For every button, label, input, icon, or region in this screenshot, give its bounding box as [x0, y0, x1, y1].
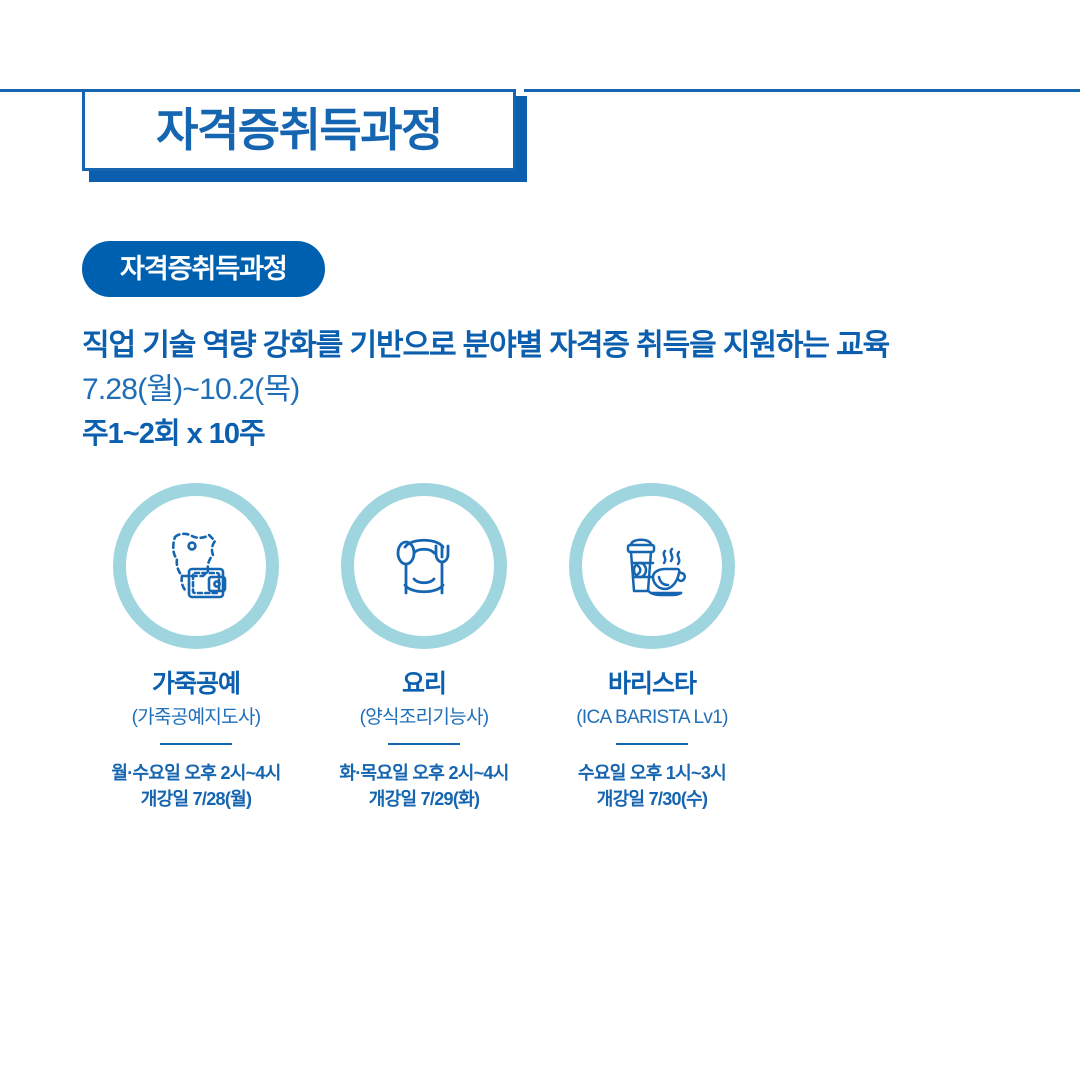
course-certificate: (가죽공예지도사) — [132, 707, 261, 729]
course-start-date: 개강일 7/30(수) — [597, 786, 708, 812]
course-certificate: (ICA BARISTA Lv1) — [576, 707, 727, 729]
course-card[interactable]: 바리스타 (ICA BARISTA Lv1) 수요일 오후 1시~3시 개강일 … — [538, 483, 766, 813]
intro-headline: 직업 기술 역량 강화를 기반으로 분야별 자격증 취득을 지원하는 교육 — [82, 327, 1042, 365]
course-divider — [160, 743, 232, 745]
course-card[interactable]: 요리 (양식조리기능사) 화·목요일 오후 2시~4시 개강일 7/29(화) — [310, 483, 538, 813]
course-divider — [616, 743, 688, 745]
header-title-box: 자격증취득과정 — [82, 89, 516, 171]
course-icon-circle — [569, 483, 735, 649]
page-title: 자격증취득과정 — [156, 107, 442, 153]
course-title: 바리스타 — [608, 671, 696, 699]
course-certificate: (양식조리기능사) — [360, 707, 489, 729]
header-banner: 자격증취득과정 — [0, 45, 1080, 140]
header-rule-left — [0, 89, 86, 92]
coffee-cup-icon — [607, 521, 697, 611]
course-title: 가죽공예 — [152, 671, 240, 699]
intro-period: 7.28(월)~10.2(목) — [82, 371, 1042, 409]
course-schedule: 수요일 오후 1시~3시 — [578, 760, 726, 786]
section-badge: 자격증취득과정 — [82, 241, 325, 297]
intro-frequency: 주1~2회 x 10주 — [82, 416, 1042, 453]
leather-craft-icon — [151, 521, 241, 611]
course-start-date: 개강일 7/28(월) — [141, 786, 252, 812]
course-divider — [388, 743, 460, 745]
course-schedule: 화·목요일 오후 2시~4시 — [339, 760, 508, 786]
course-icon-circle — [341, 483, 507, 649]
course-schedule: 월·수요일 오후 2시~4시 — [111, 760, 280, 786]
course-start-date: 개강일 7/29(화) — [369, 786, 480, 812]
course-card-list: 가죽공예 (가죽공예지도사) 월·수요일 오후 2시~4시 개강일 7/28(월… — [82, 483, 772, 813]
course-title: 요리 — [402, 671, 446, 699]
section-badge-label: 자격증취득과정 — [120, 256, 287, 283]
cooking-utensils-icon — [379, 521, 469, 611]
course-card[interactable]: 가죽공예 (가죽공예지도사) 월·수요일 오후 2시~4시 개강일 7/28(월… — [82, 483, 310, 813]
course-icon-circle — [113, 483, 279, 649]
header-rule-right — [524, 89, 1080, 92]
intro-text-block: 직업 기술 역량 강화를 기반으로 분야별 자격증 취득을 지원하는 교육 7.… — [82, 327, 1042, 453]
